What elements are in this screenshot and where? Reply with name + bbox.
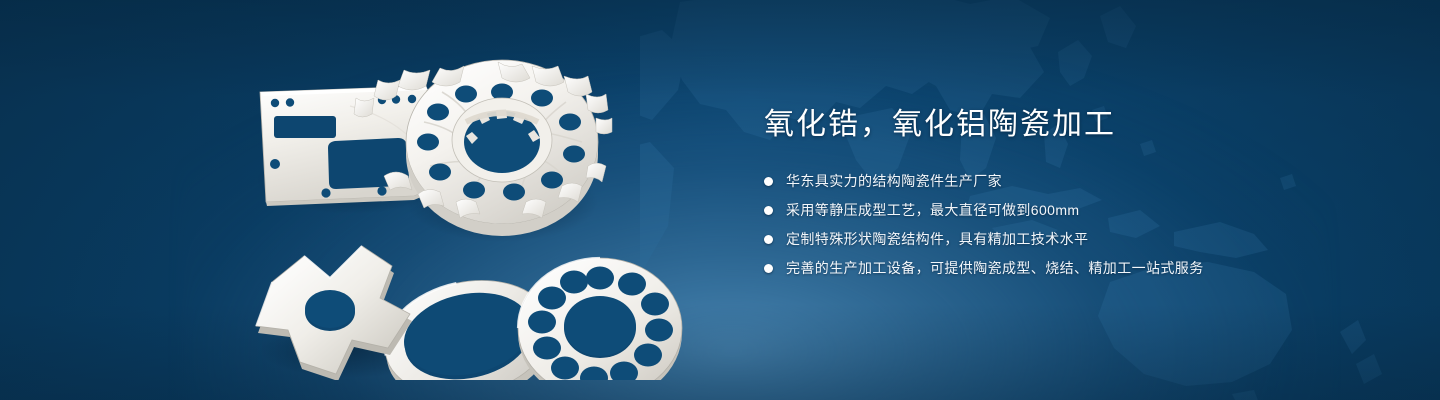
list-item: 完善的生产加工设备，可提供陶瓷成型、烧结、精加工一站式服务 <box>764 258 1384 279</box>
ceramic-perforated-disc <box>518 258 682 380</box>
list-item: 定制特殊形状陶瓷结构件，具有精加工技术水平 <box>764 229 1384 250</box>
ceramic-machining-banner: 氧化锆，氧化铝陶瓷加工 华东具实力的结构陶瓷件生产厂家 采用等静压成型工艺，最大… <box>0 0 1440 400</box>
page-title: 氧化锆，氧化铝陶瓷加工 <box>764 108 1384 141</box>
bullet-dot-icon <box>764 264 773 273</box>
feature-list: 华东具实力的结构陶瓷件生产厂家 采用等静压成型工艺，最大直径可做到600mm 定… <box>764 171 1384 279</box>
list-item: 华东具实力的结构陶瓷件生产厂家 <box>764 171 1384 192</box>
bullet-dot-icon <box>764 206 773 215</box>
feature-text: 华东具实力的结构陶瓷件生产厂家 <box>786 171 1002 192</box>
product-photo-group <box>230 30 710 380</box>
list-item: 采用等静压成型工艺，最大直径可做到600mm <box>764 200 1384 221</box>
feature-text: 完善的生产加工设备，可提供陶瓷成型、烧结、精加工一站式服务 <box>786 258 1204 279</box>
feature-text: 定制特殊形状陶瓷结构件，具有精加工技术水平 <box>786 229 1088 250</box>
bullet-dot-icon <box>764 177 773 186</box>
feature-text: 采用等静压成型工艺，最大直径可做到600mm <box>786 200 1079 221</box>
banner-text-block: 氧化锆，氧化铝陶瓷加工 华东具实力的结构陶瓷件生产厂家 采用等静压成型工艺，最大… <box>764 108 1384 287</box>
bullet-dot-icon <box>764 235 773 244</box>
